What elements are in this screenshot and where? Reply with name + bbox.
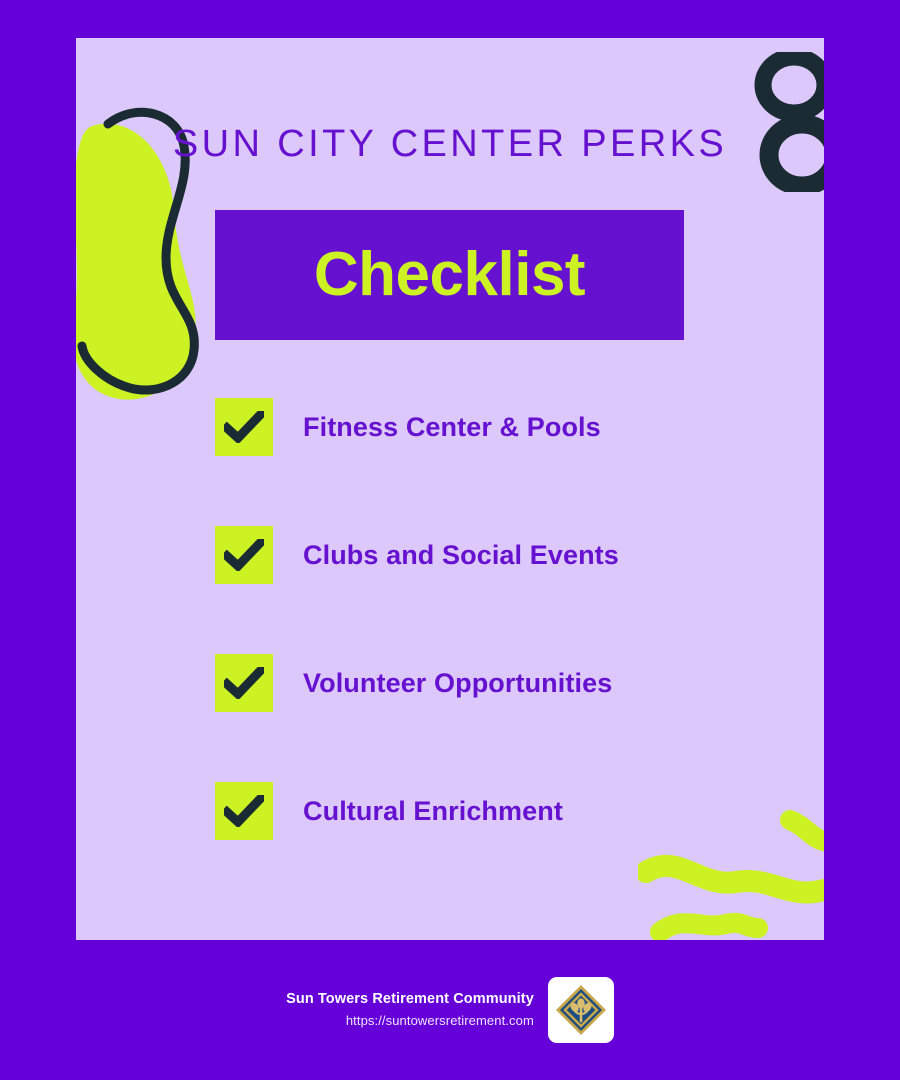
list-item[interactable]: Fitness Center & Pools [215, 398, 775, 456]
checklist-banner: Checklist [215, 210, 684, 340]
organization-name: Sun Towers Retirement Community [286, 989, 534, 1011]
list-item-label: Volunteer Opportunities [303, 668, 612, 699]
footer-text-block: Sun Towers Retirement Community https://… [286, 989, 534, 1030]
website-url[interactable]: https://suntowersretirement.com [286, 1011, 534, 1031]
list-item-label: Fitness Center & Pools [303, 412, 601, 443]
list-item-label: Cultural Enrichment [303, 796, 563, 827]
checkmark-icon [224, 539, 264, 571]
page-title: SUN CITY CENTER PERKS [76, 124, 824, 166]
checklist: Fitness Center & Pools Clubs and Social … [215, 398, 775, 840]
checkmark-icon [224, 795, 264, 827]
banner-heading: Checklist [314, 244, 585, 306]
list-item[interactable]: Clubs and Social Events [215, 526, 775, 584]
footer-content: Sun Towers Retirement Community https://… [286, 977, 614, 1043]
checkmark-icon [224, 667, 264, 699]
checkbox-checked[interactable] [215, 654, 273, 712]
checkbox-checked[interactable] [215, 526, 273, 584]
list-item[interactable]: Cultural Enrichment [215, 782, 775, 840]
poster-card: SUN CITY CENTER PERKS Checklist Fitness … [76, 38, 824, 940]
brand-logo [548, 977, 614, 1043]
list-item[interactable]: Volunteer Opportunities [215, 654, 775, 712]
checkbox-checked[interactable] [215, 398, 273, 456]
checkbox-checked[interactable] [215, 782, 273, 840]
navy-ring-shapes [754, 52, 824, 192]
diamond-wheat-logo-icon [554, 983, 608, 1037]
list-item-label: Clubs and Social Events [303, 540, 619, 571]
checkmark-icon [224, 411, 264, 443]
footer: Sun Towers Retirement Community https://… [0, 940, 900, 1080]
